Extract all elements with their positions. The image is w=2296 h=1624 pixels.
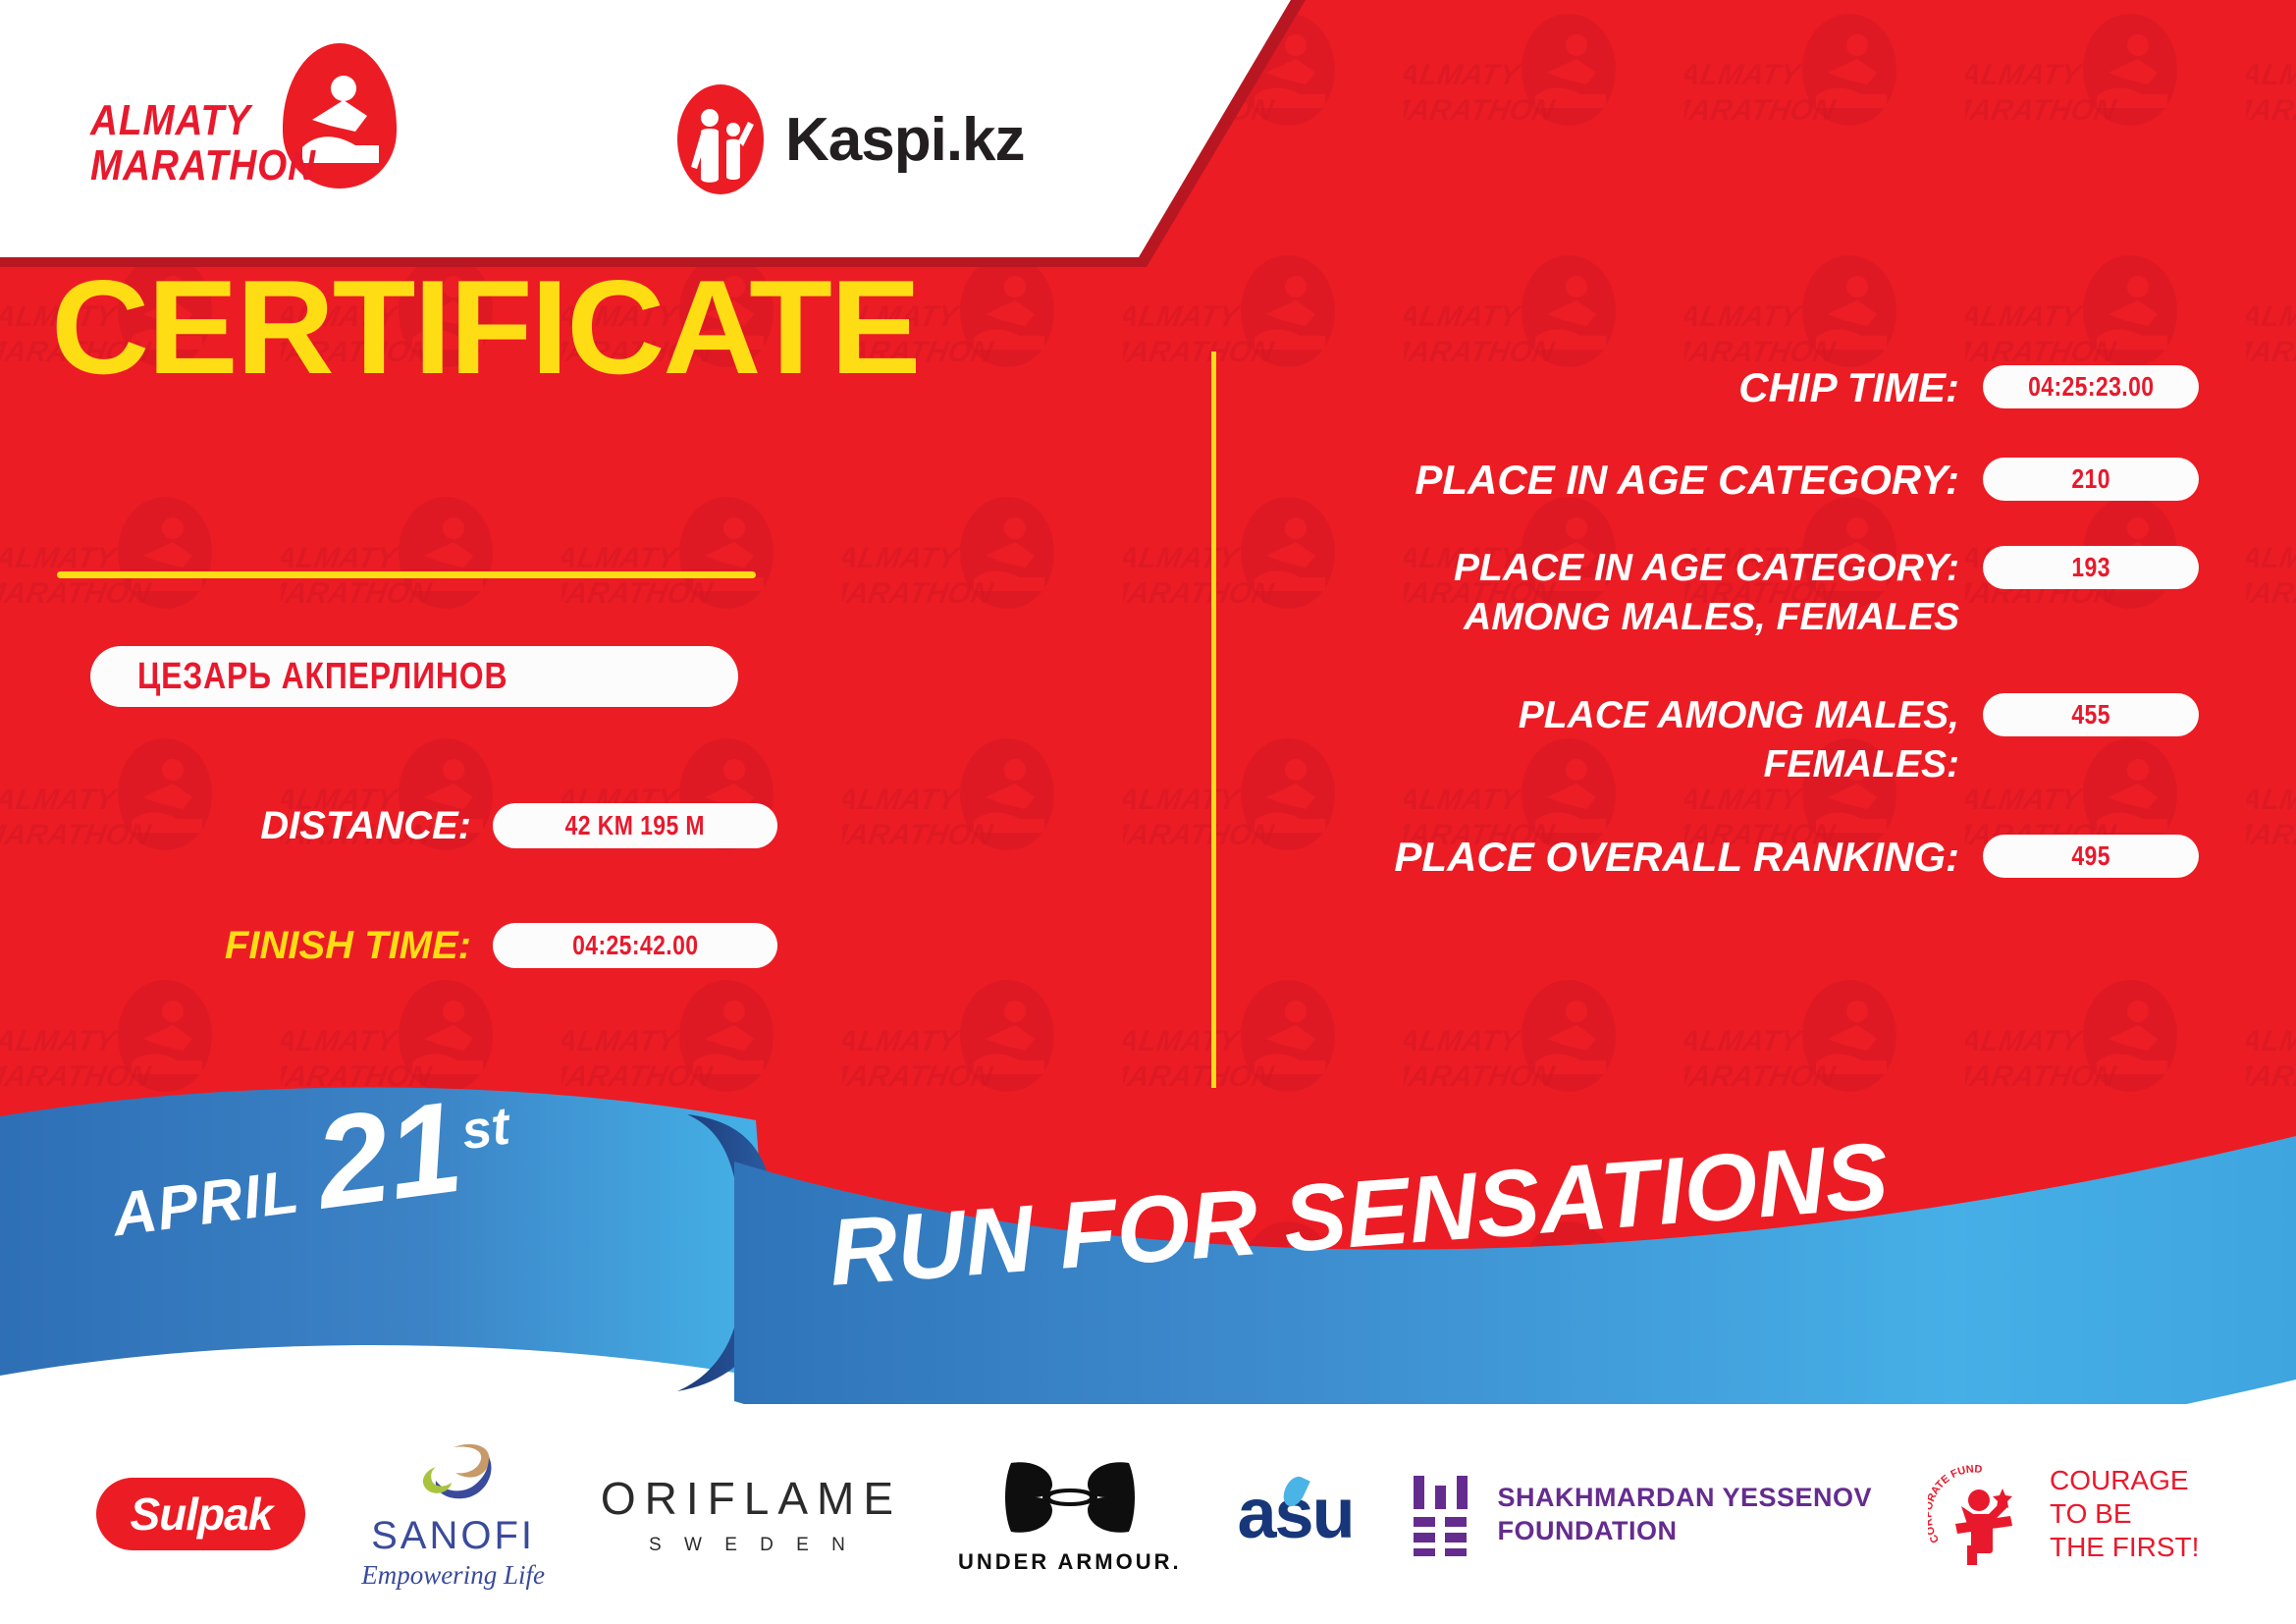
page-title: CERTIFICATE [51, 250, 919, 404]
stat-label: CHIP TIME: [1256, 363, 1983, 412]
stat-pill: 455 [1983, 693, 2199, 736]
stat-value: 455 [2071, 699, 2110, 731]
runner-name: ЦЕЗАРЬ АКПЕРЛИНОВ [137, 656, 507, 698]
sponsor-oriflame: ORIFLAME S W E D E N [601, 1472, 902, 1556]
courage-wordmark: COURAGE TO BE THE FIRST! [2050, 1464, 2199, 1564]
oriflame-logo: ORIFLAME S W E D E N [601, 1472, 902, 1556]
stat-pill: 04:25:23.00 [1983, 365, 2199, 408]
logo-line-2: MARATHON [90, 141, 316, 189]
event-day: 21 [309, 1089, 467, 1223]
column-divider [1211, 352, 1216, 1088]
sanofi-tagline: Empowering Life [361, 1562, 545, 1589]
stat-row-place-age-category: PLACE IN AGE CATEGORY: 210 [1256, 456, 2199, 505]
kaspi-logo: Kaspi.kz [677, 84, 1025, 194]
stat-pill: 210 [1983, 458, 2199, 501]
certificate-page: ALMATY MARATHON ALMATYMARATHON [0, 0, 2296, 1624]
yessenov-logo: SHAKHMARDAN YESSENOV FOUNDATION [1410, 1472, 1873, 1556]
almaty-marathon-wordmark: ALMATYMARATHON [90, 98, 316, 189]
sanofi-logo: SANOFI Empowering Life [361, 1439, 545, 1589]
distance-pill: 42 KM 195 M [493, 803, 777, 848]
event-day-suffix: st [458, 1096, 513, 1163]
stat-label: PLACE AMONG MALES, FEMALES: [1256, 691, 1983, 789]
stat-pill: 495 [1983, 835, 2199, 878]
sponsor-asu: asu [1238, 1474, 1354, 1554]
sponsor-bar: Sulpak SANOFI Empowering Life ORIFLAME S… [0, 1404, 2296, 1624]
sponsor-sanofi: SANOFI Empowering Life [361, 1439, 545, 1589]
almaty-marathon-logo: ALMATYMARATHON [90, 47, 395, 204]
stat-value: 210 [2071, 463, 2110, 495]
under-armour-icon [1001, 1453, 1139, 1542]
header-logo-row: ALMATYMARATHON Kaspi.kz [0, 0, 1158, 263]
stat-row-place-overall-ranking: PLACE OVERALL RANKING: 495 [1256, 833, 2199, 882]
sanofi-mark-icon [395, 1439, 512, 1510]
yessenov-bars-icon [1410, 1472, 1476, 1556]
finish-time-row: FINISH TIME: 04:25:42.00 [133, 923, 777, 968]
stat-label: PLACE IN AGE CATEGORY: [1256, 456, 1983, 505]
oriflame-wordmark: ORIFLAME [601, 1472, 902, 1525]
finish-time-label: FINISH TIME: [133, 924, 471, 968]
stat-row-place-age-category-among: PLACE IN AGE CATEGORY: AMONG MALES, FEMA… [1256, 544, 2199, 642]
sponsor-yessenov-foundation: SHAKHMARDAN YESSENOV FOUNDATION [1410, 1472, 1873, 1556]
stat-value: 04:25:23.00 [2028, 371, 2154, 403]
stat-value: 193 [2071, 552, 2110, 583]
asu-logo: asu [1238, 1474, 1354, 1554]
distance-label: DISTANCE: [177, 804, 471, 848]
stat-value: 495 [2071, 840, 2110, 872]
distance-value: 42 KM 195 M [565, 810, 705, 841]
sponsor-under-armour: UNDER ARMOUR. [958, 1453, 1182, 1575]
sanofi-wordmark: SANOFI [361, 1516, 545, 1555]
oriflame-tagline: S W E D E N [601, 1535, 902, 1556]
under-armour-wordmark: UNDER ARMOUR. [958, 1549, 1182, 1575]
logo-line-1: ALMATY [90, 96, 251, 144]
finish-time-value: 04:25:42.00 [572, 930, 698, 961]
sponsor-courage-fund: CORPORATE FUND COURAGE TO BE THE FIRST! [1928, 1461, 2199, 1567]
kaspi-family-icon [677, 84, 764, 194]
stat-row-place-among-males-females: PLACE AMONG MALES, FEMALES: 455 [1256, 691, 2199, 789]
distance-row: DISTANCE: 42 KM 195 M [177, 803, 777, 848]
courage-logo: CORPORATE FUND COURAGE TO BE THE FIRST! [1928, 1461, 2199, 1567]
yessenov-wordmark: SHAKHMARDAN YESSENOV FOUNDATION [1498, 1481, 1873, 1547]
stats-list: CHIP TIME: 04:25:23.00 PLACE IN AGE CATE… [1256, 363, 2199, 899]
sulpak-logo: Sulpak [96, 1478, 305, 1550]
title-divider [57, 571, 756, 578]
under-armour-logo: UNDER ARMOUR. [958, 1453, 1182, 1575]
stat-label: PLACE OVERALL RANKING: [1256, 833, 1983, 882]
stat-row-chip-time: CHIP TIME: 04:25:23.00 [1256, 363, 2199, 412]
kaspi-wordmark: Kaspi.kz [785, 105, 1025, 175]
stat-label: PLACE IN AGE CATEGORY: AMONG MALES, FEMA… [1256, 544, 1983, 642]
courage-figure-icon: CORPORATE FUND [1928, 1461, 2034, 1567]
finish-time-pill: 04:25:42.00 [493, 923, 777, 968]
sponsor-sulpak: Sulpak [96, 1478, 305, 1550]
stat-pill: 193 [1983, 546, 2199, 589]
runner-name-plate: ЦЕЗАРЬ АКПЕРЛИНОВ [90, 646, 738, 707]
